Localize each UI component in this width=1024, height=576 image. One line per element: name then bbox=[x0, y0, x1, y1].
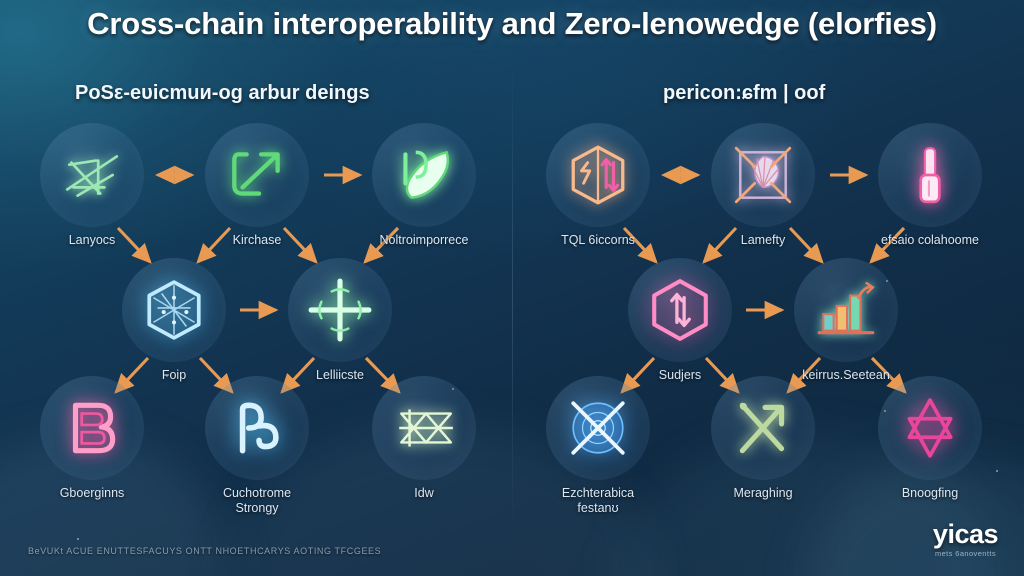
node-r1[interactable]: TQL 6iccorns bbox=[546, 123, 650, 227]
node-label: Meraghing bbox=[668, 486, 858, 501]
triangle-mesh-icon bbox=[372, 376, 476, 480]
node-label: Gboerginns bbox=[0, 486, 187, 501]
bar-chart-growth-icon bbox=[794, 258, 898, 362]
node-l4[interactable]: Foip bbox=[122, 258, 226, 362]
node-l1[interactable]: Lanyocs bbox=[40, 123, 144, 227]
script-r-icon bbox=[205, 376, 309, 480]
sparkle-dot bbox=[77, 538, 79, 540]
node-l5[interactable]: Lelliicste bbox=[288, 258, 392, 362]
node-label: TQL 6iccorns bbox=[503, 233, 693, 248]
node-l7[interactable]: Cuchotrome Strongy bbox=[205, 376, 309, 480]
page-title: Cross-chain interoperability and Zero-le… bbox=[0, 6, 1024, 42]
node-r5[interactable]: keirrus.Seetean bbox=[794, 258, 898, 362]
brand-logo: yicas mets 6anoventts bbox=[933, 521, 998, 558]
node-r2[interactable]: Lamefty bbox=[711, 123, 815, 227]
node-l6[interactable]: Gboerginns bbox=[40, 376, 144, 480]
node-label: Noltroimporrece bbox=[329, 233, 519, 248]
leaf-slash-icon bbox=[372, 123, 476, 227]
node-r6[interactable]: Ezchterabica festanʊ bbox=[546, 376, 650, 480]
node-label: Idw bbox=[329, 486, 519, 501]
sparkle-dot bbox=[996, 470, 998, 472]
diagram-canvas: Cross-chain interoperability and Zero-le… bbox=[0, 0, 1024, 576]
node-label: Kirchase bbox=[162, 233, 352, 248]
hexagon-network-icon bbox=[122, 258, 226, 362]
node-label: efsaio colahoome bbox=[835, 233, 1024, 248]
pickaxe-arrow-icon bbox=[711, 376, 815, 480]
section-heading-right: pericon:ɕfm | oof bbox=[663, 82, 825, 105]
hexagon-arrows-icon bbox=[628, 258, 732, 362]
node-l8[interactable]: Idw bbox=[372, 376, 476, 480]
curved-arrow-icon bbox=[205, 123, 309, 227]
crossed-swords-orb-icon bbox=[546, 376, 650, 480]
node-l2[interactable]: Kirchase bbox=[205, 123, 309, 227]
node-label: Lamefty bbox=[668, 233, 858, 248]
easel-wireframe-icon bbox=[40, 123, 144, 227]
framed-fan-icon bbox=[711, 123, 815, 227]
block-letter-b-icon bbox=[40, 376, 144, 480]
section-heading-left: PoSε-eυicmuи-og arbur deings bbox=[75, 82, 370, 105]
node-r4[interactable]: Sudjers bbox=[628, 258, 732, 362]
node-label: Ezchterabica festanʊ bbox=[503, 486, 693, 516]
footer-note: BeVUKt ACUE ENUTTESFACUYS ONTT NHOETHCAR… bbox=[28, 546, 381, 556]
node-l3[interactable]: Noltroimporrece bbox=[372, 123, 476, 227]
logo-wordmark: yicas bbox=[933, 521, 998, 548]
hexagram-star-icon bbox=[878, 376, 982, 480]
node-r7[interactable]: Meraghing bbox=[711, 376, 815, 480]
logo-tagline: mets 6anoventts bbox=[933, 549, 998, 558]
cube-exchange-icon bbox=[546, 123, 650, 227]
test-tube-icon bbox=[878, 123, 982, 227]
node-label: Cuchotrome Strongy bbox=[162, 486, 352, 516]
node-r3[interactable]: efsaio colahoome bbox=[878, 123, 982, 227]
node-label: Bnoogfing bbox=[835, 486, 1024, 501]
node-r8[interactable]: Bnoogfing bbox=[878, 376, 982, 480]
node-label: Lanyocs bbox=[0, 233, 187, 248]
section-divider bbox=[512, 62, 513, 532]
crosshair-plus-icon bbox=[288, 258, 392, 362]
